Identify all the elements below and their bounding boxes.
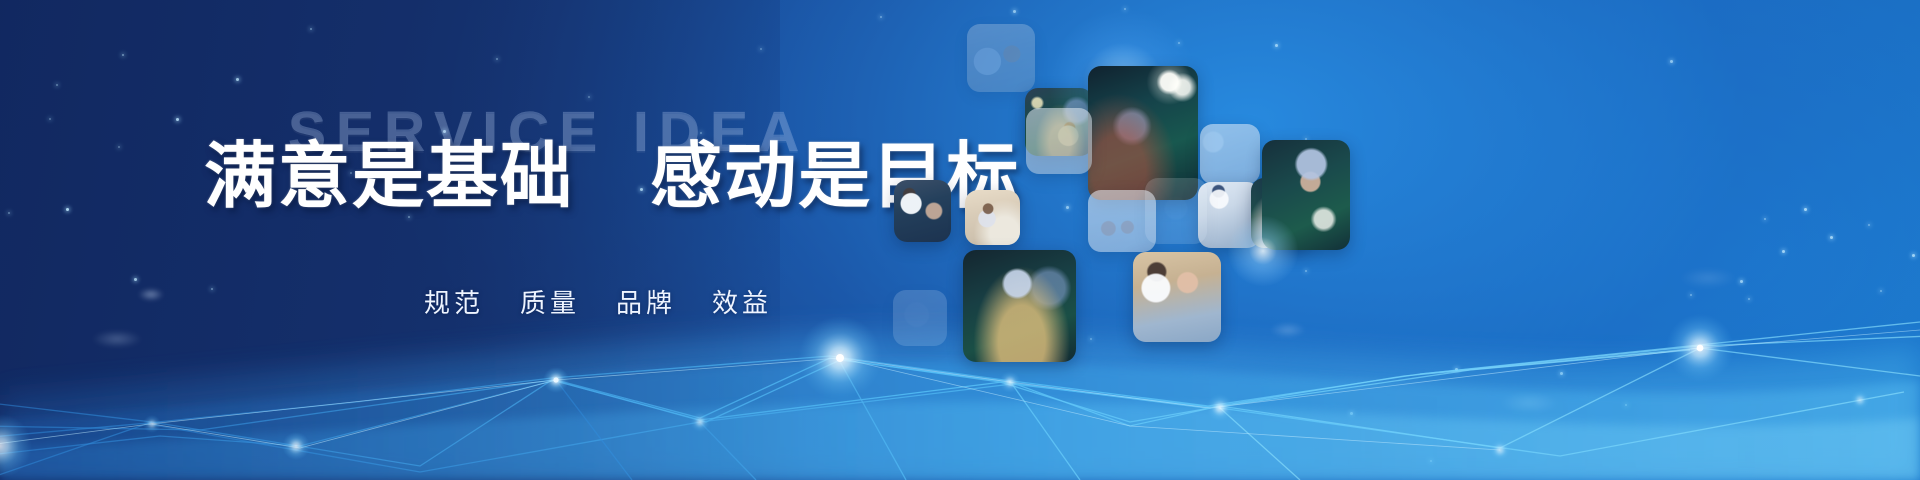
photo-lab-faded <box>1145 178 1207 244</box>
photo-doctor-at-desk <box>1026 108 1092 174</box>
service-idea-banner: SERVICE IDEA 满意是基础 感动是目标 规范 质量 品牌 效益 <box>0 0 1920 480</box>
tile-doctor-bedside-stethoscope <box>1133 252 1221 342</box>
photo-medical-equipment <box>1200 124 1260 184</box>
tile-medical-equipment <box>1200 124 1260 184</box>
tile-surgeon-closeup <box>1262 140 1350 250</box>
medical-photo-collage <box>0 0 1920 480</box>
photo-mask-faded <box>893 290 947 346</box>
photo-doctor-bedside-stethoscope <box>1133 252 1221 342</box>
tile-lab-faded <box>1145 178 1207 244</box>
photo-doctor-consulting-patient <box>967 24 1035 92</box>
photo-surgeon-closeup <box>1262 140 1350 250</box>
tile-doctor-at-desk <box>1026 108 1092 174</box>
tile-doctor-exam-room <box>894 180 951 242</box>
photo-nurse-ward-bedside <box>965 190 1020 245</box>
photo-doctor-exam-room <box>894 180 951 242</box>
tile-operating-room-wide <box>963 250 1076 362</box>
photo-operating-room-wide <box>963 250 1076 362</box>
tile-nurse-ward-bedside <box>965 190 1020 245</box>
tile-mask-faded <box>893 290 947 346</box>
tile-doctor-consulting-patient <box>967 24 1035 92</box>
